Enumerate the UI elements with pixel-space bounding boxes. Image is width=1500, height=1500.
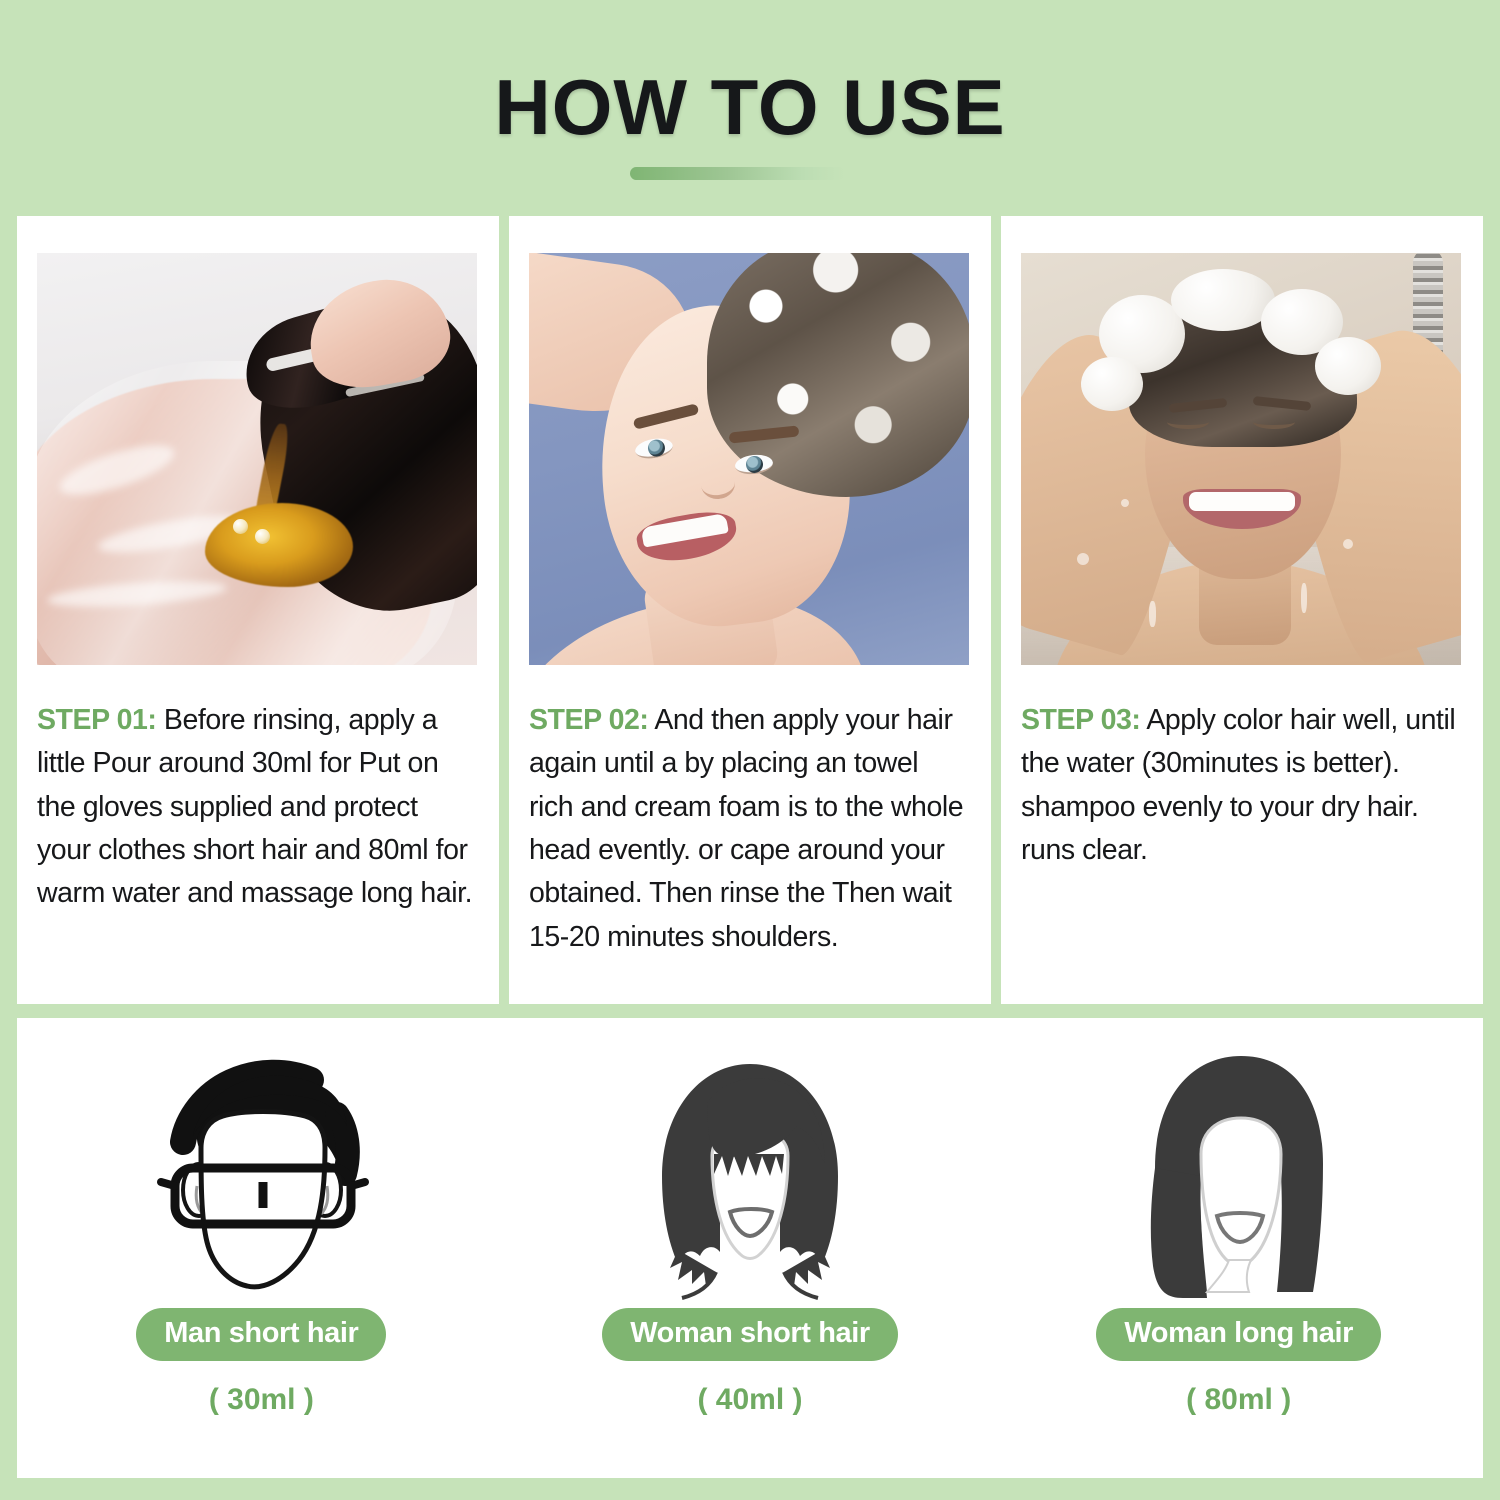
water-droplet: [1077, 553, 1089, 565]
step-2-text: STEP 02: And then apply your hair again …: [529, 699, 971, 959]
step-3-photo: [1021, 253, 1461, 665]
hair-type-woman-short: Woman short hair ( 40ml ): [506, 1018, 995, 1478]
title-underline-decoration: [630, 167, 845, 180]
step-card-1: STEP 01: Before rinsing, apply a little …: [17, 216, 499, 1004]
woman-long-hair-volume: ( 80ml ): [1186, 1383, 1291, 1417]
step-2-body: And then apply your hair again until a b…: [529, 704, 963, 953]
water-stream: [1301, 583, 1307, 613]
man-short-hair-icon: [121, 1036, 401, 1304]
woman-short-hair-volume: ( 40ml ): [697, 1383, 802, 1417]
water-droplet: [1343, 539, 1353, 549]
step-1-text: STEP 01: Before rinsing, apply a little …: [37, 699, 479, 916]
liquid-bead: [255, 529, 270, 544]
page-header: HOW TO USE: [0, 0, 1500, 216]
step-2-label: STEP 02:: [529, 704, 648, 736]
woman-short-hair-label: Woman short hair: [602, 1308, 898, 1361]
closed-eye: [1167, 415, 1209, 429]
step-card-2: STEP 02: And then apply your hair again …: [509, 216, 991, 1004]
step-3-text: STEP 03: Apply color hair well, until th…: [1021, 699, 1463, 872]
iris: [745, 455, 764, 474]
hair-type-woman-long: Woman long hair ( 80ml ): [994, 1018, 1483, 1478]
closed-eye: [1253, 415, 1295, 429]
shampoo-foam: [1081, 357, 1143, 411]
page-title: HOW TO USE: [0, 62, 1500, 153]
woman-long-hair-label: Woman long hair: [1096, 1308, 1381, 1361]
hair-type-card: Man short hair ( 30ml ) Woman short hair…: [17, 1018, 1483, 1478]
step-1-photo: [37, 253, 477, 665]
step-1-label: STEP 01:: [37, 704, 156, 736]
step-2-photo: [529, 253, 969, 665]
water-stream: [1149, 601, 1156, 627]
steps-row: STEP 01: Before rinsing, apply a little …: [17, 216, 1483, 1004]
woman-long-hair-icon: [1099, 1036, 1379, 1304]
liquid-bead: [233, 519, 248, 534]
water-droplet: [1121, 499, 1129, 507]
step-card-3: STEP 03: Apply color hair well, until th…: [1001, 216, 1483, 1004]
shampoo-foam: [1315, 337, 1381, 395]
teeth: [1189, 492, 1295, 511]
iris: [647, 438, 667, 458]
hair-type-man-short: Man short hair ( 30ml ): [17, 1018, 506, 1478]
man-short-hair-label: Man short hair: [136, 1308, 386, 1361]
woman-short-hair-icon: [610, 1036, 890, 1304]
shampoo-foam: [1171, 269, 1275, 331]
step-3-label: STEP 03:: [1021, 704, 1140, 736]
man-short-hair-volume: ( 30ml ): [209, 1383, 314, 1417]
